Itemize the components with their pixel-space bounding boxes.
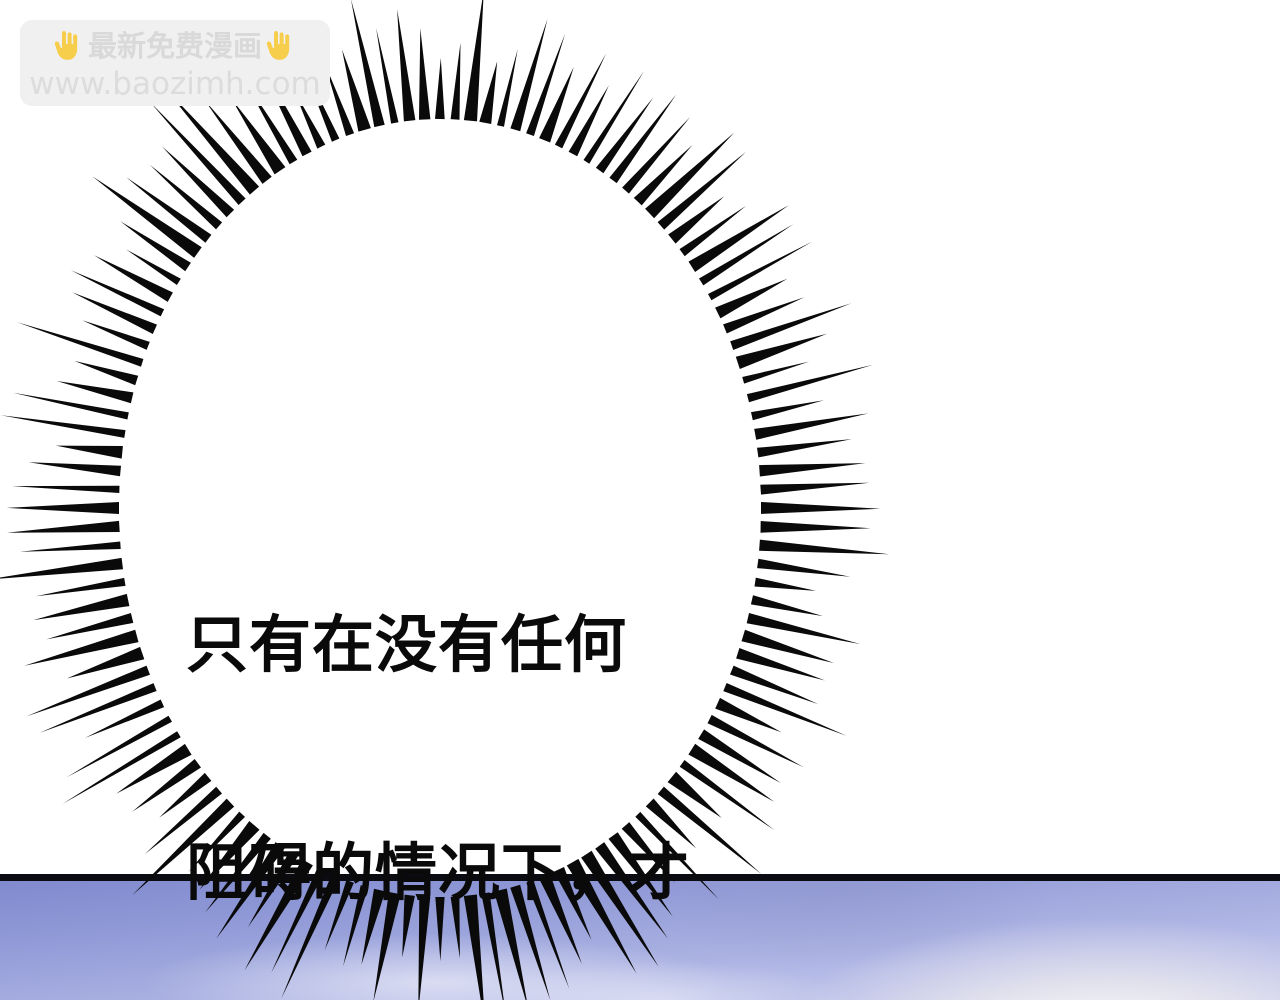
watermark-badge: 最新免费漫画 www.baozimh.com [20, 20, 330, 106]
speech-line-1: 只有在没有任何 [186, 607, 746, 683]
watermark-cn-text: 最新免费漫画 [88, 32, 262, 61]
watermark-url-text: www.baozimh.com [29, 69, 321, 100]
speech-line-2: 阻碍的情况下，才 [186, 835, 746, 911]
pointing-down-hand-icon [266, 31, 296, 63]
watermark-top-row: 最新免费漫画 [54, 27, 296, 67]
speech-text: 只有在没有任何 阻碍的情况下，才 能使用那种方法! [186, 455, 746, 1000]
comic-panel: 只有在没有任何 阻碍的情况下，才 能使用那种方法! 最新免费漫画 www.bao… [0, 0, 1280, 1000]
pointing-down-hand-icon [54, 31, 84, 63]
